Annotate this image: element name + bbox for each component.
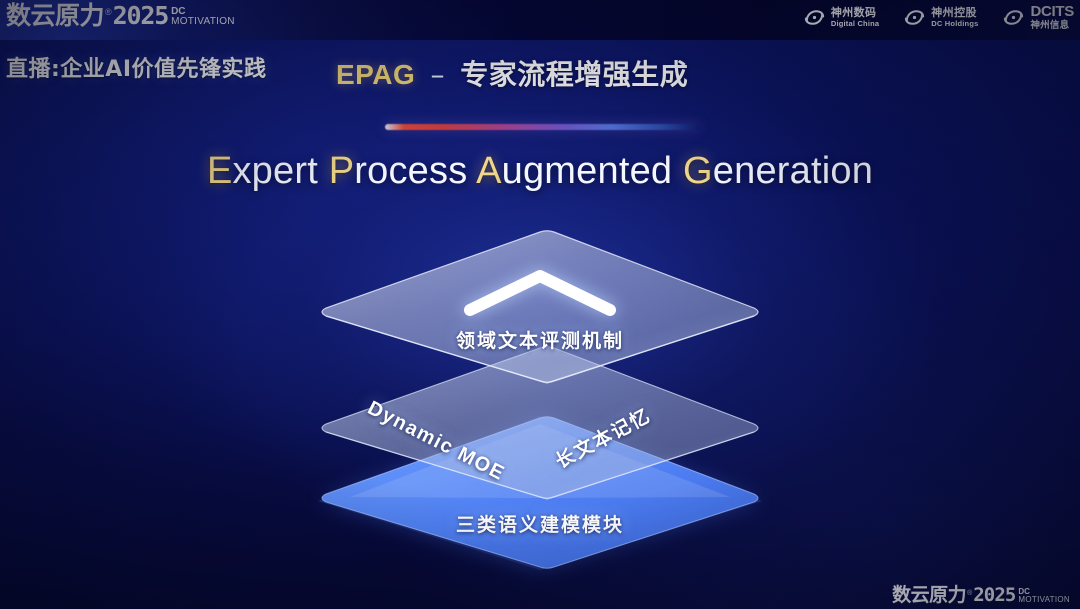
partner-name-en: DC Holdings: [931, 20, 978, 28]
partner-text: 神州控股 DC Holdings: [931, 7, 978, 27]
headline-dash: –: [431, 58, 446, 91]
swirl-icon: [903, 6, 926, 29]
layer-stack-diagram: 三类语义建模模块 Dynamic MOE 长文本记忆: [300, 218, 780, 598]
footer-brand-name-cn: 数云原力: [892, 586, 966, 605]
brand-logo: 数云原力 ® 2025 DC MOTIVATION: [6, 3, 235, 28]
subtitle-cap-a: A: [476, 150, 502, 192]
headline-acronym: EPAG: [336, 59, 415, 90]
swirl-icon: [803, 6, 826, 29]
brand-year: 2025: [113, 3, 168, 28]
footer-brand-suffix: DC MOTIVATION: [1018, 588, 1070, 604]
partner-logo-dc-holdings: 神州控股 DC Holdings: [903, 6, 978, 29]
top-banner: 数云原力 ® 2025 DC MOTIVATION: [0, 0, 1080, 40]
headline-title-cn: 专家流程增强生成: [460, 58, 688, 91]
subtitle-rest-process: rocess: [354, 150, 467, 192]
brand-suffix: DC MOTIVATION: [171, 7, 235, 26]
footer-brand-suffix-motivation: MOTIVATION: [1018, 596, 1070, 604]
partner-name-en: Digital China: [831, 20, 879, 28]
brand-suffix-motivation: MOTIVATION: [171, 17, 235, 27]
partner-name-cn: 神州控股: [931, 7, 978, 18]
subtitle-rest-generation: eneration: [713, 150, 873, 192]
partner-name-en: 神州信息: [1030, 21, 1074, 31]
partner-logo-digital-china: 神州数码 Digital China: [803, 6, 879, 29]
live-broadcast-strap: 直播:企业AI价值先锋实践: [6, 51, 267, 83]
page-title: EPAG – 专家流程增强生成: [336, 53, 688, 93]
subtitle-cap-p: P: [329, 150, 355, 192]
slide-canvas: 数云原力 ® 2025 DC MOTIVATION: [0, 0, 1080, 609]
footer-brand-year: 2025: [973, 586, 1015, 605]
swirl-icon: [1002, 6, 1025, 29]
layer-top-label: 领域文本评测机制: [300, 326, 780, 353]
page-subtitle: Expert Process Augmented Generation: [0, 150, 1080, 193]
partner-name-cn: DCITS: [1030, 4, 1074, 19]
footer-watermark-logo: 数云原力 ® 2025 DC MOTIVATION: [892, 586, 1070, 605]
subtitle-rest-augmented: ugmented: [502, 150, 673, 192]
title-divider: [385, 124, 700, 130]
footer-brand-registered-mark: ®: [967, 590, 972, 597]
chevron-up-icon: [460, 266, 620, 318]
brand-name-cn: 数云原力: [6, 3, 104, 28]
subtitle-rest-expert: xpert: [232, 150, 317, 192]
partner-text: DCITS 神州信息: [1030, 4, 1074, 30]
partner-logo-group: 神州数码 Digital China 神州控股 DC H: [803, 4, 1074, 30]
layer-top[interactable]: 领域文本评测机制: [300, 218, 780, 598]
brand-registered-mark: ®: [105, 7, 112, 17]
subtitle-cap-e: E: [207, 150, 233, 192]
partner-name-cn: 神州数码: [831, 7, 879, 18]
partner-logo-dcits: DCITS 神州信息: [1002, 4, 1074, 30]
subtitle-cap-g: G: [683, 150, 713, 192]
partner-text: 神州数码 Digital China: [831, 7, 879, 27]
